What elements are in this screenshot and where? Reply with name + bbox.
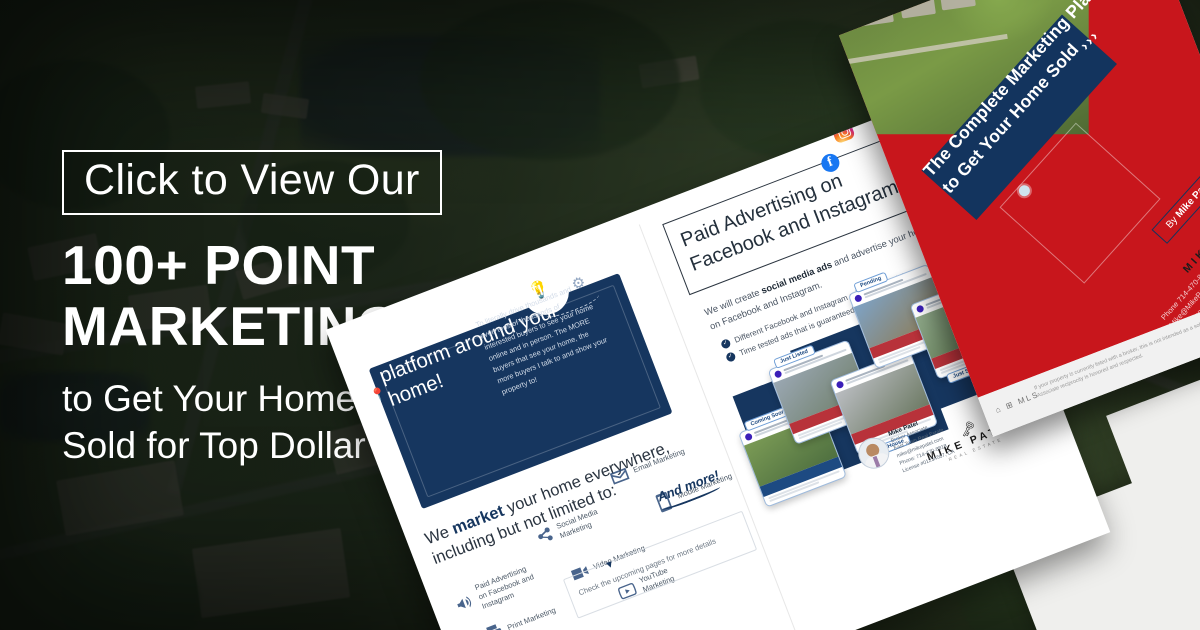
click-to-view-button[interactable]: Click to View Our	[62, 150, 442, 215]
hero-banner[interactable]: Click to View Our 100+ POINT MARKETING P…	[0, 0, 1200, 630]
byline-name: Mike Patel	[1174, 176, 1200, 220]
avatar	[774, 370, 783, 379]
check-bullet-icon: ✓	[725, 352, 737, 364]
channel-label: Paid Advertising on Facebook and Instagr…	[474, 562, 542, 612]
avatar	[854, 294, 863, 303]
avatar	[744, 432, 753, 441]
avatar	[835, 380, 844, 389]
realtor-mls-icons: ⌂ ⊞ MLS	[994, 390, 1041, 415]
cta-label: Click to View Our	[84, 158, 420, 203]
printer-icon	[481, 621, 507, 630]
cover-byline: By Mike Patel	[1152, 163, 1200, 244]
megaphone-icon	[452, 590, 478, 616]
check-bullet-icon: ✓	[720, 338, 732, 350]
channel-label: Print Marketing	[506, 602, 567, 630]
avatar	[916, 304, 925, 313]
